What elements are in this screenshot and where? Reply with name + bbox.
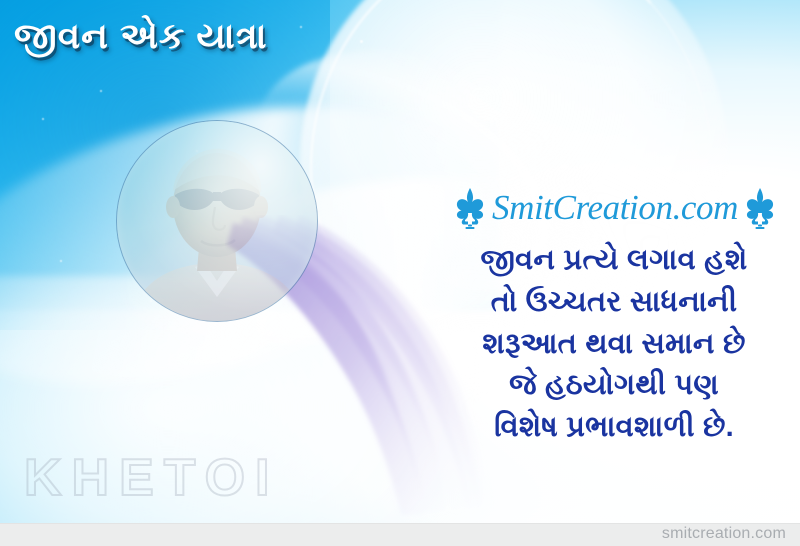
footer-bar: smitcreation.com — [0, 523, 800, 546]
sparkle-dot — [60, 260, 62, 262]
quote-block: જીવન પ્રત્યે લગાવ હશે તો ઉચ્ચતર સાધનાની … — [432, 240, 796, 449]
sparkle-dot — [330, 250, 333, 253]
page-title: જીવન એક યાત્રા — [14, 16, 268, 56]
portrait-circle — [116, 120, 318, 322]
fleur-de-lis-icon — [745, 187, 775, 229]
sparkle-dot — [300, 26, 302, 28]
fleur-de-lis-icon — [455, 187, 485, 229]
poster-canvas: જીવન એક યાત્રા SmitCreation.com જીવન પ્ર… — [0, 0, 800, 546]
watermark-text: KHETOI — [24, 448, 280, 508]
quote-line: શરૂઆત થવા સમાન છે — [432, 324, 796, 366]
quote-line: તો ઉચ્ચતર સાધનાની — [432, 282, 796, 324]
quote-line: વિશેષ પ્રભાવશાળી છે. — [432, 407, 796, 449]
sparkle-dot — [100, 90, 102, 92]
portrait-overlay-veil — [117, 121, 317, 321]
brand-logo-text: SmitCreation.com — [492, 188, 738, 228]
footer-site-url: smitcreation.com — [662, 525, 786, 543]
brand-logo[interactable]: SmitCreation.com — [455, 184, 775, 232]
quote-line: જીવન પ્રત્યે લગાવ હશે — [432, 240, 796, 282]
sparkle-dot — [42, 118, 44, 120]
sparkle-dot — [360, 40, 363, 43]
quote-line: જે હઠયોગથી પણ — [432, 365, 796, 407]
